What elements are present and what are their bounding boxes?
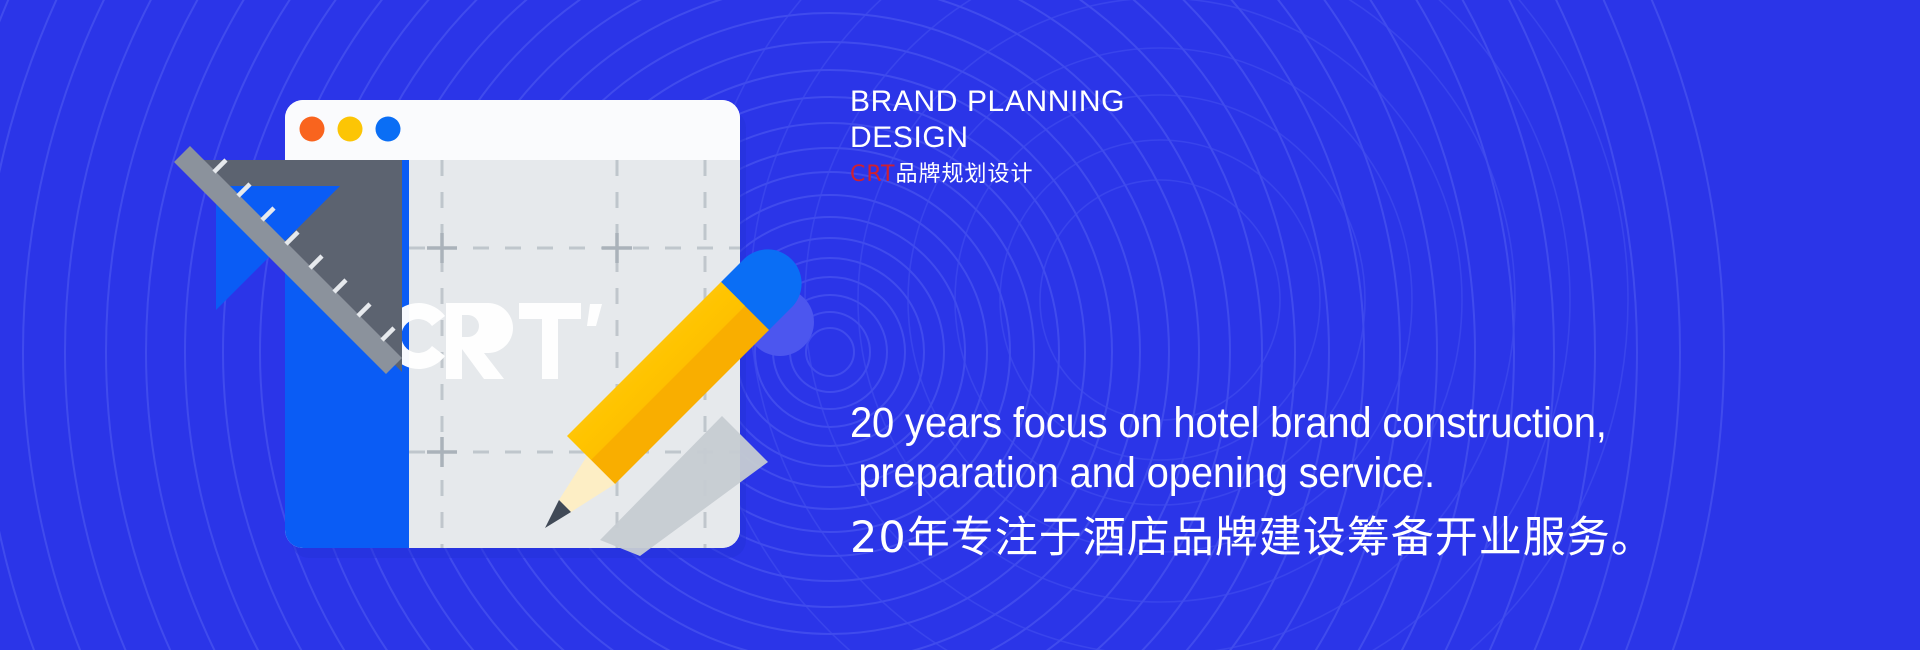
headline-english-line-1: 20 years focus on hotel brand constructi… (850, 398, 1780, 448)
banner-text-column: BRAND PLANNING DESIGN CRT品牌规划设计 20 years… (850, 0, 1890, 650)
traffic-light-dots (300, 117, 401, 142)
eyebrow-chinese: CRT品牌规划设计 (850, 161, 1410, 189)
eyebrow-block: BRAND PLANNING DESIGN CRT品牌规划设计 (850, 84, 1410, 189)
eyebrow-line-1: BRAND PLANNING (850, 84, 1410, 120)
close-dot (300, 117, 325, 142)
brand-design-illustration (0, 0, 900, 650)
headline-english: 20 years focus on hotel brand constructi… (850, 398, 1780, 498)
brand-banner: BRAND PLANNING DESIGN CRT品牌规划设计 20 years… (0, 0, 1920, 650)
headline-chinese: 20年专注于酒店品牌建设筹备开业服务。 (850, 512, 1850, 564)
eyebrow-chinese-text: 品牌规划设计 (896, 162, 1034, 187)
maximize-dot (376, 117, 401, 142)
minimize-dot (338, 117, 363, 142)
headline-block: 20 years focus on hotel brand constructi… (850, 398, 1850, 564)
eyebrow-line-2: DESIGN (850, 120, 1410, 156)
crt-brand-mark: CRT (850, 162, 896, 187)
headline-english-line-2: preparation and opening service. (850, 448, 1780, 498)
